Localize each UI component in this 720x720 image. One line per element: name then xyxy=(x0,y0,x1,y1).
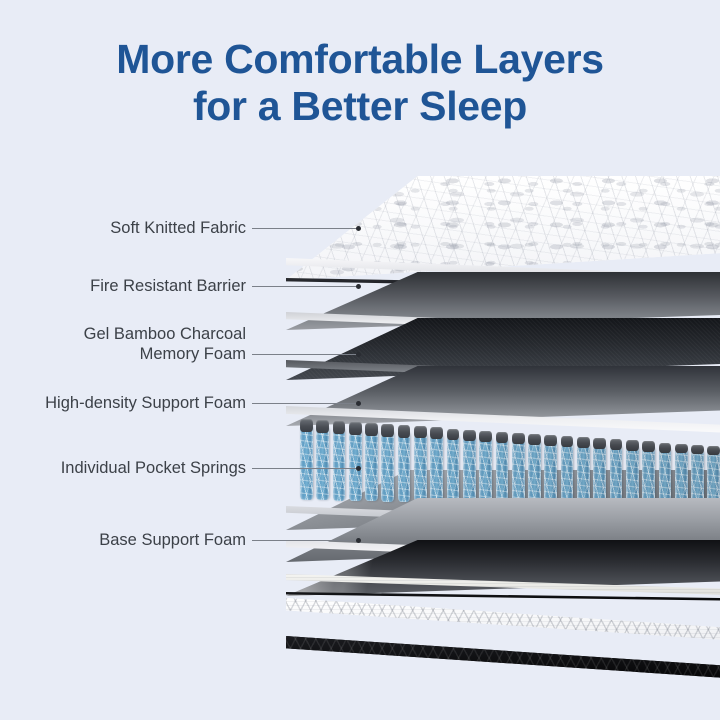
spring-coil-texture xyxy=(398,432,411,502)
spring-coil-texture xyxy=(528,440,541,504)
spring-pocket-cap xyxy=(561,436,574,447)
spring-pocket-cap xyxy=(414,426,427,438)
leader-line-soft-knitted-fabric xyxy=(252,228,359,229)
spring-pocket-cap xyxy=(528,434,541,445)
spring-coil-texture xyxy=(512,439,525,504)
spring-pocket-cap xyxy=(626,440,639,450)
label-high-density-support-foam: High-density Support Foam xyxy=(45,393,246,413)
spring-pocket-cap xyxy=(463,430,476,442)
pocket-spring xyxy=(414,433,427,502)
leader-line-base-support-foam xyxy=(252,540,359,541)
spring-pocket-cap xyxy=(659,443,672,453)
spring-coil-texture xyxy=(577,443,590,505)
leader-line-high-density-support-foam xyxy=(252,403,359,404)
spring-pocket-cap xyxy=(675,444,688,454)
page-title: More Comfortable Layers for a Better Sle… xyxy=(0,36,720,130)
leader-line-individual-pocket-springs xyxy=(252,468,359,469)
label-soft-knitted-fabric: Soft Knitted Fabric xyxy=(110,218,246,238)
spring-pocket-cap xyxy=(642,441,655,451)
pocket-spring xyxy=(544,441,557,505)
spring-pocket-cap xyxy=(496,432,509,443)
pocket-spring xyxy=(610,445,623,506)
pocket-spring xyxy=(316,427,329,500)
spring-pocket-cap xyxy=(447,429,460,441)
pocket-spring xyxy=(398,432,411,502)
spring-pocket-cap xyxy=(398,425,411,437)
pocket-spring xyxy=(577,443,590,505)
pocket-spring xyxy=(561,442,574,505)
spring-pocket-cap xyxy=(512,433,525,444)
label-gel-bamboo-charcoal-memory-foam: Gel Bamboo Charcoal Memory Foam xyxy=(84,324,246,364)
chevron-black-surface xyxy=(286,636,720,680)
spring-pocket-cap xyxy=(430,427,443,439)
spring-pocket-cap xyxy=(544,435,557,446)
spring-coil-texture xyxy=(365,430,378,501)
spring-pocket-cap xyxy=(479,431,492,443)
label-individual-pocket-springs: Individual Pocket Springs xyxy=(61,458,246,478)
title-line-2: for a Better Sleep xyxy=(0,83,720,130)
spring-pocket-cap xyxy=(300,419,313,432)
pocket-spring xyxy=(479,437,492,503)
pocket-spring xyxy=(496,438,509,504)
leader-line-gel-bamboo-charcoal-memory-foam xyxy=(252,354,359,355)
spring-coil-texture xyxy=(300,426,313,500)
spring-coil-texture xyxy=(593,444,606,506)
spring-pocket-cap xyxy=(381,424,394,436)
pocket-spring xyxy=(447,435,460,503)
spring-coil-texture xyxy=(463,436,476,503)
spring-pocket-cap xyxy=(593,438,606,449)
spring-coil-texture xyxy=(316,427,329,500)
pocket-spring xyxy=(381,431,394,502)
spring-pocket-cap xyxy=(316,420,329,433)
pocket-spring xyxy=(365,430,378,501)
base-core-glossy-band xyxy=(286,540,720,596)
pocket-spring xyxy=(463,436,476,503)
spring-pocket-cap xyxy=(333,421,346,434)
spring-coil-texture xyxy=(447,435,460,503)
layer-individual-pocket-springs xyxy=(300,408,720,508)
spring-coil-texture xyxy=(349,429,362,501)
pocket-spring xyxy=(512,439,525,504)
title-line-1: More Comfortable Layers xyxy=(0,36,720,83)
leader-line-fire-resistant-barrier xyxy=(252,286,359,287)
spring-pocket-cap xyxy=(577,437,590,448)
label-fire-resistant-barrier: Fire Resistant Barrier xyxy=(90,276,246,296)
spring-coil-texture xyxy=(333,428,346,501)
spring-pocket-cap xyxy=(691,445,704,455)
spring-coil-texture xyxy=(561,442,574,505)
spring-pocket-cap xyxy=(365,423,378,435)
pocket-spring xyxy=(300,426,313,500)
pocket-spring xyxy=(528,440,541,504)
chevron-black-base xyxy=(286,636,720,688)
spring-coil-texture xyxy=(479,437,492,503)
spring-pocket-cap xyxy=(610,439,623,449)
spring-coil-texture xyxy=(381,431,394,502)
spring-coil-texture xyxy=(544,441,557,505)
spring-coil-texture xyxy=(610,445,623,506)
pocket-spring xyxy=(349,429,362,501)
pocket-spring xyxy=(593,444,606,506)
pocket-spring xyxy=(333,428,346,501)
pocket-spring xyxy=(430,434,443,502)
spring-coil-texture xyxy=(430,434,443,502)
spring-coil-texture xyxy=(496,438,509,504)
spring-pocket-cap xyxy=(349,422,362,435)
infographic-canvas: More Comfortable Layers for a Better Sle… xyxy=(0,0,720,720)
spring-pocket-cap xyxy=(707,446,720,456)
label-base-support-foam: Base Support Foam xyxy=(99,530,246,550)
spring-coil-texture xyxy=(414,433,427,502)
